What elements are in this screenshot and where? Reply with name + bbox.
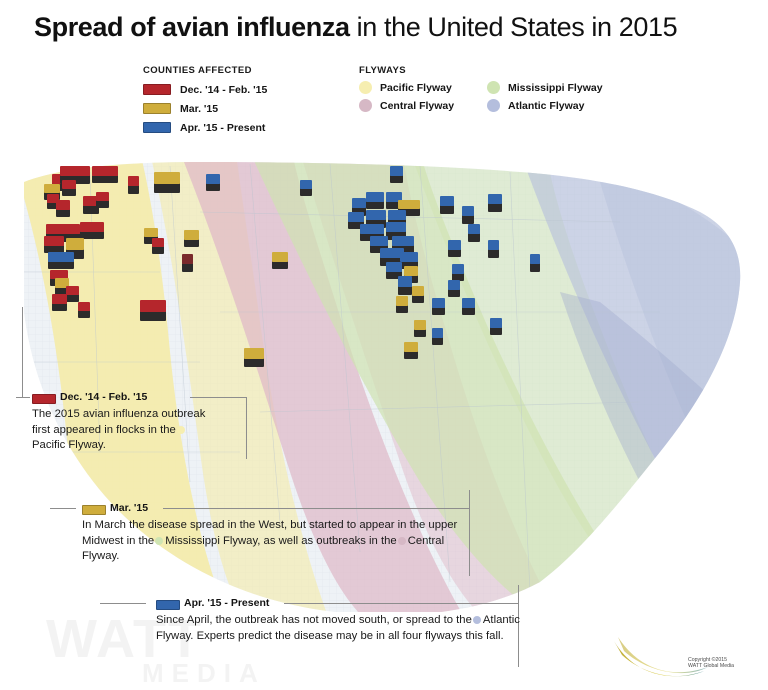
county-marker <box>414 320 426 337</box>
callout-2-body: In March the disease spread in the West,… <box>82 518 474 565</box>
county-marker <box>96 192 109 208</box>
callout-1-rule-down <box>246 397 247 459</box>
county-marker-shadow <box>206 183 220 191</box>
county-marker-top <box>440 196 454 206</box>
county-marker <box>488 240 499 258</box>
county-marker-shadow <box>390 175 403 183</box>
county-marker-shadow <box>184 239 199 247</box>
county-marker-top <box>272 252 288 262</box>
legend-label-atlantic: Atlantic Flyway <box>508 100 584 112</box>
county-marker <box>404 342 418 359</box>
callout-1-leader-vertical <box>22 307 23 397</box>
county-marker-shadow <box>448 249 461 257</box>
county-marker-top <box>468 224 480 234</box>
legend-item-apr-present: Apr. '15 - Present <box>143 118 333 137</box>
county-marker-top <box>398 276 412 287</box>
counties-affected-legend: COUNTIES AFFECTED Dec. '14 - Feb. '15 Ma… <box>143 65 333 137</box>
county-marker-top <box>400 252 418 262</box>
county-marker-shadow <box>66 294 79 302</box>
legend-label-apr-present: Apr. '15 - Present <box>180 122 265 134</box>
callout-3-body: Since April, the outbreak has not moved … <box>156 613 526 644</box>
county-marker-shadow <box>182 263 193 272</box>
callout-1-body: The 2015 avian influenza outbreak first … <box>32 407 212 454</box>
county-marker <box>44 236 64 253</box>
county-marker-shadow <box>448 289 460 297</box>
legend-dot-atlantic <box>487 99 500 112</box>
page-title-strong: Spread of avian influenza <box>34 12 350 42</box>
county-marker-shadow <box>128 185 139 194</box>
legend-swatch-dec-feb <box>143 84 171 95</box>
legend-label-mar: Mar. '15 <box>180 103 218 115</box>
callout-3-leader-left <box>100 603 146 604</box>
county-marker-top <box>46 224 80 234</box>
county-marker-shadow <box>488 249 499 258</box>
county-marker <box>52 294 67 311</box>
callout-1-swatch <box>32 394 56 404</box>
callout-1-head: Dec. '14 - Feb. '15 <box>32 391 212 404</box>
county-marker-top <box>78 302 90 311</box>
county-marker-top <box>414 320 426 330</box>
county-marker-top <box>448 280 460 290</box>
county-marker-shadow <box>462 307 475 315</box>
callout-2-leader-left <box>50 508 76 509</box>
county-marker-top <box>390 166 403 176</box>
callout-3-atlantic-dot <box>473 616 481 624</box>
county-marker-top <box>404 266 418 276</box>
county-marker-shadow <box>140 311 166 321</box>
county-marker-top <box>154 172 180 184</box>
copyright-notice: Copyright ©2015 WATT Global Media <box>688 657 760 669</box>
county-marker-top <box>412 286 424 296</box>
county-marker-top <box>140 300 166 312</box>
county-marker-top <box>398 200 420 209</box>
callout-2-head: Mar. '15 <box>82 502 474 515</box>
flyways-legend: FLYWAYS Pacific Flyway Mississippi Flywa… <box>359 65 659 112</box>
county-marker <box>128 176 139 194</box>
callout-2-swatch <box>82 505 106 515</box>
county-marker-shadow <box>414 329 426 337</box>
legend-item-mar: Mar. '15 <box>143 99 333 118</box>
county-marker-top <box>452 264 464 274</box>
county-marker <box>366 192 384 209</box>
county-marker <box>206 174 220 191</box>
callout-2-title: Mar. '15 <box>110 502 148 514</box>
county-marker-shadow <box>462 215 474 224</box>
county-marker <box>78 302 90 318</box>
county-marker-shadow <box>56 209 70 217</box>
county-marker-shadow <box>154 183 180 193</box>
county-marker <box>440 196 454 214</box>
county-marker-top <box>80 222 104 232</box>
callout-dec-feb: Dec. '14 - Feb. '15 The 2015 avian influ… <box>32 391 212 454</box>
county-marker-top <box>488 194 502 204</box>
legend-dot-central <box>359 99 372 112</box>
county-marker-top <box>182 254 193 264</box>
county-marker-top <box>370 236 388 246</box>
county-marker-shadow <box>152 246 164 254</box>
county-marker-shadow <box>404 351 418 359</box>
county-marker <box>490 318 502 335</box>
legend-label-dec-feb: Dec. '14 - Feb. '15 <box>180 84 267 96</box>
county-marker <box>432 328 443 345</box>
county-marker <box>56 200 70 217</box>
county-marker <box>140 300 166 321</box>
county-marker <box>152 238 164 254</box>
county-marker <box>398 276 412 295</box>
county-marker-shadow <box>62 188 76 196</box>
county-marker-shadow <box>490 327 502 335</box>
county-marker-top <box>44 184 60 193</box>
county-marker <box>452 264 464 281</box>
legend-item-dec-feb: Dec. '14 - Feb. '15 <box>143 80 333 99</box>
callout-2-text-2: Mississippi Flyway, as well as outbreaks… <box>165 535 396 547</box>
county-marker-shadow <box>48 261 74 269</box>
title-bar: Spread of avian influenza in the United … <box>0 8 768 48</box>
county-marker-top <box>62 180 76 189</box>
county-marker-shadow <box>366 201 384 209</box>
county-marker-top <box>348 212 364 222</box>
county-marker-top <box>184 230 199 240</box>
county-marker-top <box>404 342 418 352</box>
county-marker-shadow <box>78 310 90 318</box>
county-marker <box>182 254 193 272</box>
county-marker-top <box>144 228 158 237</box>
county-marker-top <box>448 240 461 250</box>
legend-label-mississippi: Mississippi Flyway <box>508 82 603 94</box>
county-marker <box>448 280 460 297</box>
callout-1-leader-tick <box>16 397 30 398</box>
callout-1-pacific-dot <box>177 426 185 434</box>
callout-mar: Mar. '15 In March the disease spread in … <box>82 502 474 565</box>
county-marker <box>412 286 424 303</box>
county-marker-top <box>360 224 384 234</box>
legend-label-central: Central Flyway <box>380 100 454 112</box>
legend-dot-mississippi <box>487 81 500 94</box>
county-marker-top <box>386 262 402 272</box>
county-marker-top <box>300 180 312 189</box>
county-marker-top <box>48 252 74 262</box>
county-marker <box>154 172 180 193</box>
legend-dot-pacific <box>359 81 372 94</box>
county-marker-top <box>56 200 70 210</box>
county-marker-shadow <box>96 200 109 208</box>
counties-legend-heading: COUNTIES AFFECTED <box>143 65 333 76</box>
county-marker-shadow <box>468 233 480 242</box>
callout-3-swatch <box>156 600 180 610</box>
county-marker-top <box>392 236 414 246</box>
county-marker-top <box>530 254 540 264</box>
county-marker-top <box>366 192 384 202</box>
legend-item-atlantic-flyway: Atlantic Flyway <box>487 99 659 112</box>
county-marker <box>62 180 76 196</box>
legend-item-central-flyway: Central Flyway <box>359 99 487 112</box>
county-marker <box>390 166 403 183</box>
county-marker-top <box>490 318 502 328</box>
county-marker-top <box>60 166 90 176</box>
county-marker <box>300 180 312 196</box>
legend-item-pacific-flyway: Pacific Flyway <box>359 81 487 94</box>
county-marker <box>184 230 199 247</box>
county-marker-top <box>388 210 406 220</box>
callout-apr-present: Apr. '15 - Present Since April, the outb… <box>156 597 526 644</box>
county-marker <box>80 222 104 239</box>
county-marker-shadow <box>432 307 445 315</box>
county-marker <box>448 240 461 257</box>
county-marker-top <box>206 174 220 184</box>
county-marker-top <box>366 210 386 220</box>
county-marker-top <box>488 240 499 250</box>
flyways-legend-heading: FLYWAYS <box>359 65 659 76</box>
county-marker <box>244 348 264 367</box>
page-title-light: in the United States in 2015 <box>350 12 678 42</box>
county-marker-shadow <box>412 295 424 303</box>
county-marker-top <box>432 298 445 308</box>
callout-3-title: Apr. '15 - Present <box>184 597 269 609</box>
legend-swatch-mar <box>143 103 171 114</box>
county-marker-top <box>66 238 84 250</box>
county-marker-top <box>152 238 164 247</box>
county-marker-shadow <box>92 175 118 183</box>
county-marker-shadow <box>398 286 412 295</box>
county-marker <box>530 254 540 272</box>
legend-item-mississippi-flyway: Mississippi Flyway <box>487 81 659 94</box>
county-marker <box>92 166 118 183</box>
callout-2-central-dot <box>398 537 406 545</box>
page-title: Spread of avian influenza in the United … <box>34 12 677 43</box>
copyright-line-2: WATT Global Media <box>688 663 760 669</box>
legend-label-pacific: Pacific Flyway <box>380 82 452 94</box>
county-marker <box>48 252 74 269</box>
county-marker-shadow <box>396 305 408 313</box>
county-marker <box>396 296 408 313</box>
county-marker-shadow <box>272 261 288 269</box>
county-marker-top <box>92 166 118 176</box>
county-marker-top <box>44 236 64 246</box>
county-marker-top <box>386 222 406 232</box>
county-marker-shadow <box>300 188 312 196</box>
county-marker <box>432 298 445 315</box>
county-marker-top <box>462 206 474 216</box>
watermark-line-2: MEDIA <box>142 656 476 690</box>
county-marker-shadow <box>440 205 454 214</box>
legend-area: COUNTIES AFFECTED Dec. '14 - Feb. '15 Ma… <box>0 62 768 154</box>
county-marker-shadow <box>52 303 67 311</box>
callout-1-text-after: Pacific Flyway. <box>32 439 106 451</box>
legend-swatch-apr-present <box>143 122 171 133</box>
county-marker-top <box>244 348 264 359</box>
county-marker-shadow <box>432 337 443 345</box>
county-marker-top <box>128 176 139 186</box>
county-marker <box>272 252 288 269</box>
county-marker-top <box>66 286 79 295</box>
callout-2-mississippi-dot <box>155 537 163 545</box>
callout-1-title: Dec. '14 - Feb. '15 <box>60 391 147 403</box>
county-marker-top <box>396 296 408 306</box>
callout-3-text-1: Since April, the outbreak has not moved … <box>156 614 472 626</box>
county-marker <box>462 298 475 315</box>
county-marker <box>66 286 79 302</box>
county-marker-top <box>52 294 67 304</box>
county-marker-top <box>432 328 443 338</box>
county-marker-shadow <box>530 263 540 272</box>
county-marker-shadow <box>488 203 502 212</box>
county-marker <box>488 194 502 212</box>
callout-3-head: Apr. '15 - Present <box>156 597 526 610</box>
county-marker-top <box>352 198 366 208</box>
county-marker <box>462 206 474 224</box>
county-marker-top <box>462 298 475 308</box>
county-marker-shadow <box>244 358 264 367</box>
county-marker-top <box>96 192 109 201</box>
county-marker <box>468 224 480 242</box>
